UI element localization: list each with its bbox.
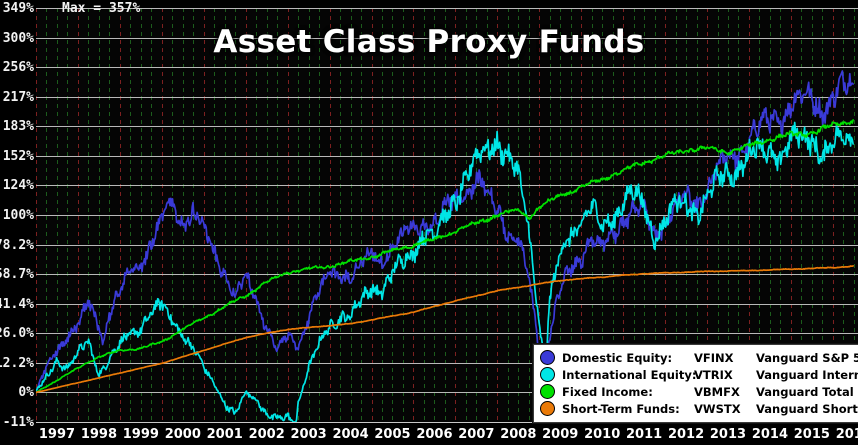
legend-row[interactable]: International Equity:VTRIXVanguard Inter… [540, 366, 858, 383]
legend-fund-description: Vanguard S&P 500 Index Fund [756, 351, 858, 365]
legend-fund-description: Vanguard Short-Term Tax Exempt [756, 402, 858, 416]
legend-row[interactable]: Short-Term Funds:VWSTXVanguard Short-Ter… [540, 400, 858, 417]
legend-row[interactable]: Fixed Income:VBMFXVanguard Total Bond Ma… [540, 383, 858, 400]
legend-ticker-symbol: VFINX [694, 351, 756, 365]
legend-row[interactable]: Domestic Equity:VFINXVanguard S&P 500 In… [540, 349, 858, 366]
y-axis-tick-label: 0% [18, 386, 34, 399]
y-axis-tick-label: 12.2% [0, 357, 34, 370]
legend-asset-class-label: Domestic Equity: [562, 351, 694, 365]
y-axis-tick-label: 78.2% [0, 239, 34, 252]
y-axis-tick-label: 152% [3, 150, 34, 163]
y-axis-tick-label: 124% [3, 179, 34, 192]
legend-fund-description: Vanguard International Value Fund [756, 368, 858, 382]
legend-color-dot-icon [540, 384, 555, 399]
chart-title: Asset Class Proxy Funds [0, 24, 858, 60]
asset-class-proxy-funds-chart: 349%300%256%217%183%152%124%100%78.2%58.… [0, 0, 858, 445]
y-axis-tick-label: 256% [3, 61, 34, 74]
x-axis-tick-label: 2016 [829, 428, 858, 441]
max-value-annotation: Max = 357% [62, 1, 140, 16]
legend-asset-class-label: International Equity: [562, 368, 694, 382]
y-axis-tick-label: -11% [3, 416, 34, 429]
legend-color-dot-icon [540, 350, 555, 365]
legend-asset-class-label: Fixed Income: [562, 385, 694, 399]
legend-ticker-symbol: VBMFX [694, 385, 756, 399]
y-axis-tick-label: 217% [3, 91, 34, 104]
y-axis-tick-label: 58.7% [0, 268, 34, 281]
legend-ticker-symbol: VWSTX [694, 402, 756, 416]
y-axis-tick-label: 349% [3, 2, 34, 15]
legend-color-dot-icon [540, 401, 555, 416]
legend-asset-class-label: Short-Term Funds: [562, 402, 694, 416]
y-axis-tick-label: 41.4% [0, 298, 34, 311]
legend-fund-description: Vanguard Total Bond Market Fund [756, 385, 858, 399]
y-axis-tick-label: 183% [3, 120, 34, 133]
y-axis-tick-label: 100% [3, 209, 34, 222]
chart-legend[interactable]: Domestic Equity:VFINXVanguard S&P 500 In… [533, 344, 858, 423]
legend-ticker-symbol: VTRIX [694, 368, 756, 382]
legend-color-dot-icon [540, 367, 555, 382]
y-axis-tick-label: 26.0% [0, 327, 34, 340]
